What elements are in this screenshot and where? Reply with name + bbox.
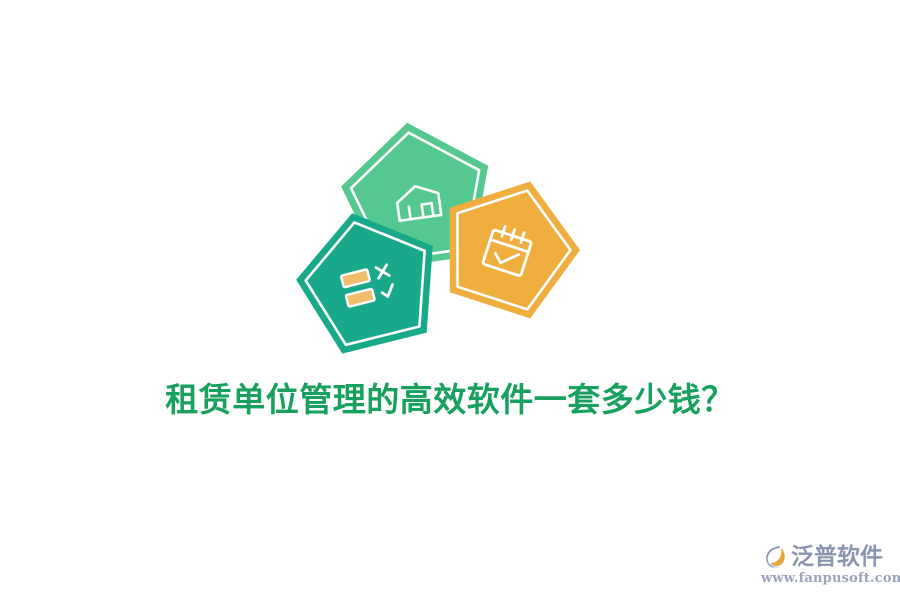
brand-logo[interactable]: 泛普软件 www.fanpusoft.com — [760, 543, 886, 586]
brand-logo-row: 泛普软件 — [760, 543, 883, 571]
brand-name: 泛普软件 — [791, 544, 883, 570]
brand-url: www.fanpusoft.com — [761, 571, 900, 586]
page-title: 租赁单位管理的高效软件一套多少钱？ — [0, 378, 900, 422]
pentagon-checklist — [300, 110, 580, 355]
page-canvas: 租赁单位管理的高效软件一套多少钱？ 泛普软件 www.fanpusoft.com — [0, 0, 900, 600]
fanpu-c-mark-icon — [760, 543, 788, 571]
pentagon-illustration — [300, 110, 580, 355]
